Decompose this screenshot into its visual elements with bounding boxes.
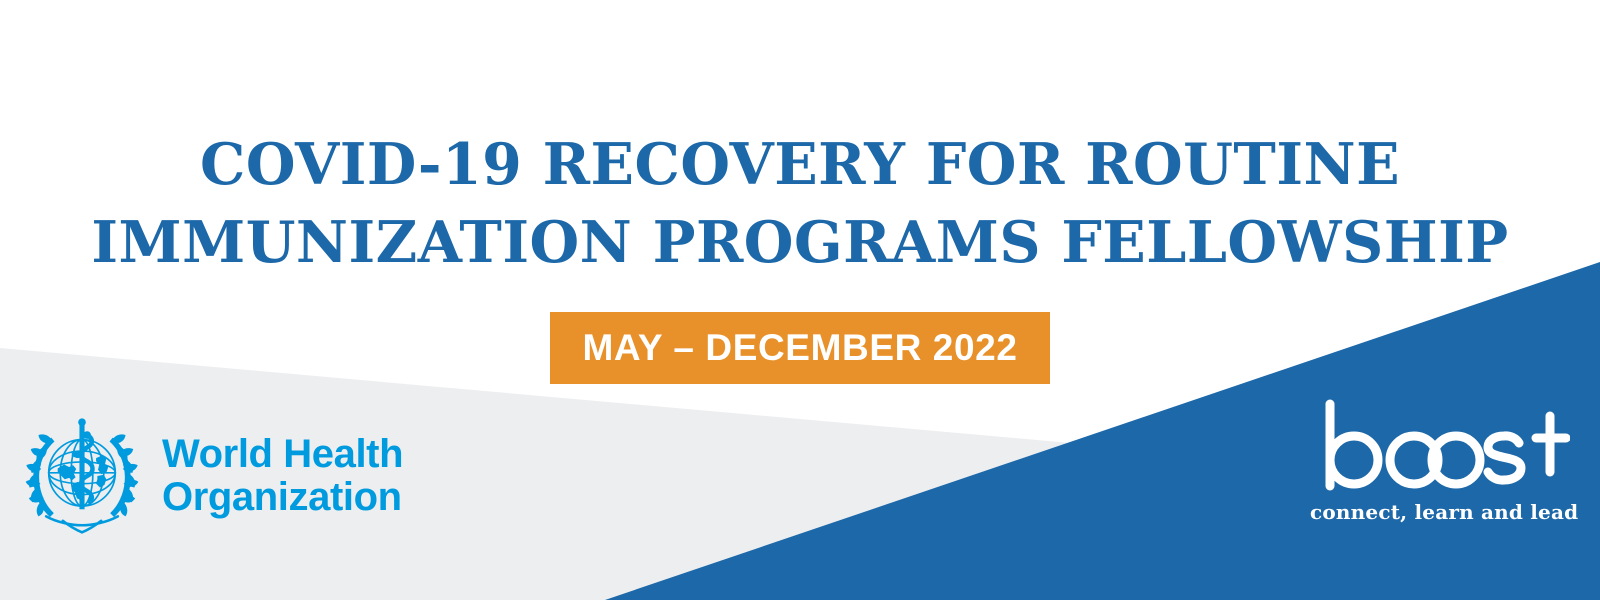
who-wordmark-line-1: World Health <box>162 433 403 476</box>
date-badge-container: MAY – DECEMBER 2022 <box>0 312 1600 384</box>
who-wordmark-line-2: Organization <box>162 476 403 519</box>
boost-logo: connect, learn and lead <box>1310 398 1570 524</box>
banner-title-line-1: COVID-19 RECOVERY FOR ROUTINE <box>0 126 1600 204</box>
who-logo: World Health Organization <box>18 412 403 540</box>
who-emblem-icon <box>18 412 146 540</box>
boost-tagline: connect, learn and lead <box>1310 500 1570 524</box>
boost-wordmark-icon <box>1310 398 1570 494</box>
banner-root: COVID-19 RECOVERY FOR ROUTINE IMMUNIZATI… <box>0 0 1600 600</box>
date-badge: MAY – DECEMBER 2022 <box>550 312 1049 384</box>
who-wordmark: World Health Organization <box>162 433 403 519</box>
banner-title: COVID-19 RECOVERY FOR ROUTINE IMMUNIZATI… <box>0 126 1600 282</box>
banner-title-line-2: IMMUNIZATION PROGRAMS FELLOWSHIP <box>0 204 1600 282</box>
